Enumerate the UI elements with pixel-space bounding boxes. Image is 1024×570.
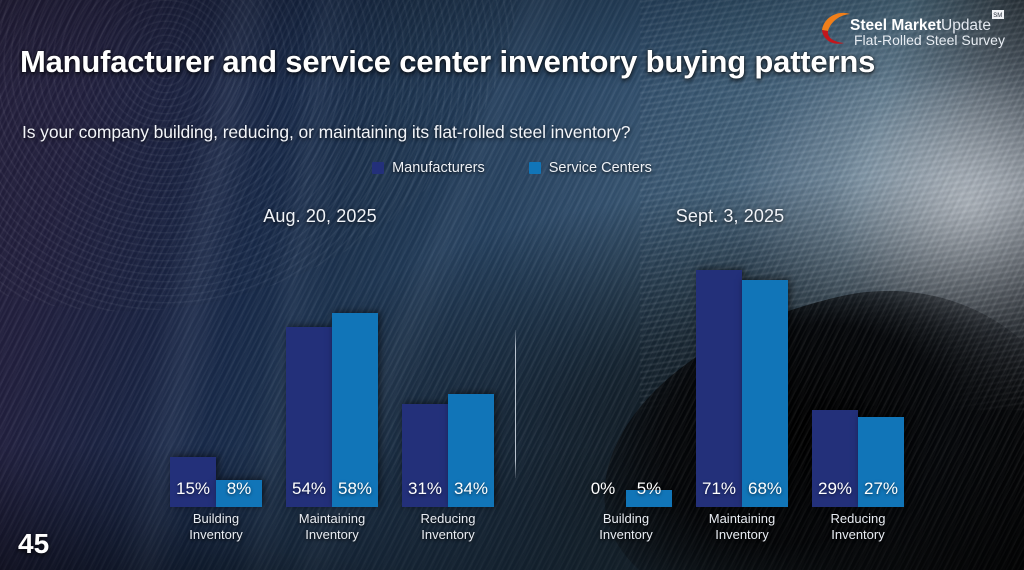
logo-tagline: Flat-Rolled Steel Survey <box>854 32 1005 48</box>
bar-slot: 68% <box>742 240 788 507</box>
chart-legend: Manufacturers Service Centers <box>0 160 1024 176</box>
bar-value-label: 31% <box>402 479 448 499</box>
bar-manufacturers[interactable]: 29% <box>812 410 858 507</box>
bar-slot: 71% <box>696 240 742 507</box>
bar-value-label: 58% <box>332 479 378 499</box>
bar-groups-aug: 15%8%54%58%31%34% <box>170 240 494 507</box>
category-label-line: Inventory <box>812 527 904 543</box>
bar-manufacturers[interactable]: 71% <box>696 270 742 507</box>
bar-slot: 54% <box>286 240 332 507</box>
category-label-line: Building <box>170 511 262 527</box>
bar-group: 29%27% <box>812 240 904 507</box>
bar-slot: 0% <box>580 240 626 507</box>
chart-sept-3-2025: Sept. 3, 2025 0%5%71%68%29%27% BuildingI… <box>530 196 930 556</box>
legend-item-service-centers[interactable]: Service Centers <box>529 160 652 176</box>
bar-slot: 31% <box>402 240 448 507</box>
bar-groups-sept: 0%5%71%68%29%27% <box>580 240 904 507</box>
bar-slot: 27% <box>858 240 904 507</box>
category-label: MaintainingInventory <box>286 511 378 543</box>
category-label-line: Inventory <box>580 527 672 543</box>
category-label-line: Inventory <box>696 527 788 543</box>
category-label-line: Inventory <box>286 527 378 543</box>
category-label: ReducingInventory <box>402 511 494 543</box>
bar-value-label: 29% <box>812 479 858 499</box>
bar-value-label: 27% <box>858 479 904 499</box>
bar-slot: 8% <box>216 240 262 507</box>
category-labels-sept: BuildingInventoryMaintainingInventoryRed… <box>580 511 904 543</box>
bar-value-label: 15% <box>170 479 216 499</box>
bar-value-label: 8% <box>216 479 262 499</box>
slide-canvas: Steel Market Update Flat-Rolled Steel Su… <box>0 0 1024 570</box>
chart-aug-20-2025: Aug. 20, 2025 15%8%54%58%31%34% Building… <box>120 196 520 556</box>
page-subtitle: Is your company building, reducing, or m… <box>22 122 630 143</box>
bar-service-centers[interactable]: 8% <box>216 480 262 507</box>
page-title: Manufacturer and service center inventor… <box>20 44 875 80</box>
category-label-line: Inventory <box>170 527 262 543</box>
category-label-line: Maintaining <box>286 511 378 527</box>
logo-swoosh-icon <box>822 13 850 44</box>
bar-value-label: 0% <box>580 479 626 499</box>
bar-value-label: 34% <box>448 479 494 499</box>
category-label-line: Inventory <box>402 527 494 543</box>
category-labels-aug: BuildingInventoryMaintainingInventoryRed… <box>170 511 494 543</box>
bar-service-centers[interactable]: 58% <box>332 313 378 507</box>
legend-swatch-icon-manufacturers <box>372 162 384 174</box>
category-label: BuildingInventory <box>170 511 262 543</box>
plot-area-sept: 0%5%71%68%29%27% <box>580 240 904 507</box>
category-label: MaintainingInventory <box>696 511 788 543</box>
trademark-text: SM <box>993 13 1002 19</box>
bar-manufacturers[interactable]: 0% <box>580 481 626 507</box>
bar-group: 54%58% <box>286 240 378 507</box>
legend-label-manufacturers: Manufacturers <box>392 160 485 176</box>
bar-slot: 5% <box>626 240 672 507</box>
category-label-line: Building <box>580 511 672 527</box>
bar-slot: 34% <box>448 240 494 507</box>
category-label: BuildingInventory <box>580 511 672 543</box>
plot-area-aug: 15%8%54%58%31%34% <box>170 240 494 507</box>
legend-swatch-icon-service-centers <box>529 162 541 174</box>
chart-title-sept: Sept. 3, 2025 <box>530 206 930 227</box>
bar-group: 0%5% <box>580 240 672 507</box>
bar-service-centers[interactable]: 34% <box>448 394 494 507</box>
category-label: ReducingInventory <box>812 511 904 543</box>
bar-slot: 15% <box>170 240 216 507</box>
bar-group: 15%8% <box>170 240 262 507</box>
legend-label-service-centers: Service Centers <box>549 160 652 176</box>
bar-value-label: 54% <box>286 479 332 499</box>
bar-service-centers[interactable]: 27% <box>858 417 904 507</box>
legend-item-manufacturers[interactable]: Manufacturers <box>372 160 485 176</box>
category-label-line: Reducing <box>812 511 904 527</box>
bar-slot: 58% <box>332 240 378 507</box>
bar-value-label: 71% <box>696 479 742 499</box>
page-number: 45 <box>18 528 49 560</box>
bar-manufacturers[interactable]: 15% <box>170 457 216 507</box>
bar-group: 71%68% <box>696 240 788 507</box>
bar-manufacturers[interactable]: 54% <box>286 327 332 507</box>
category-label-line: Reducing <box>402 511 494 527</box>
chart-divider <box>515 330 516 478</box>
category-label-line: Maintaining <box>696 511 788 527</box>
bar-group: 31%34% <box>402 240 494 507</box>
bar-value-label: 68% <box>742 479 788 499</box>
bar-slot: 29% <box>812 240 858 507</box>
bar-service-centers[interactable]: 5% <box>626 490 672 507</box>
chart-title-aug: Aug. 20, 2025 <box>120 206 520 227</box>
bar-manufacturers[interactable]: 31% <box>402 404 448 507</box>
bar-service-centers[interactable]: 68% <box>742 280 788 507</box>
bar-value-label: 5% <box>626 479 672 499</box>
